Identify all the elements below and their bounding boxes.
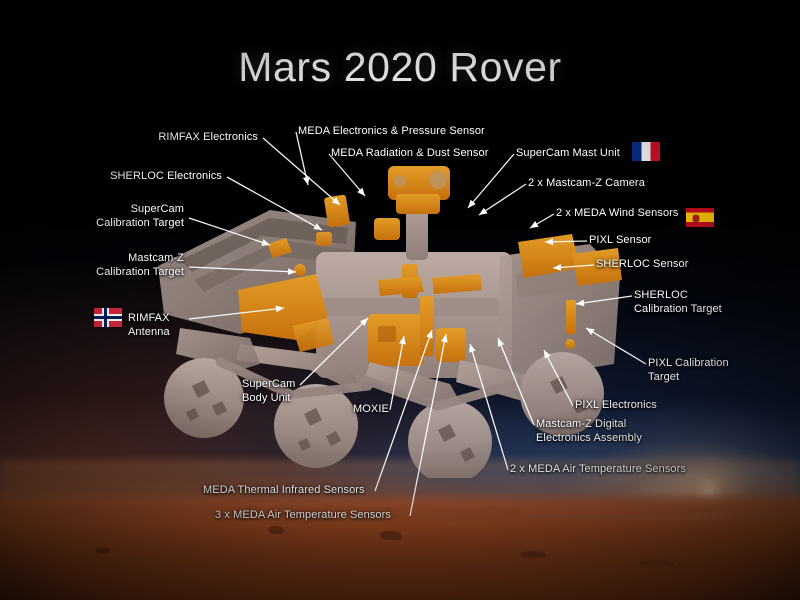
callout-sherloc-sensor: SHERLOC Sensor	[596, 258, 689, 272]
callout-moxie: MOXIE	[353, 403, 389, 417]
page-title: Mars 2020 Rover	[0, 44, 800, 91]
callout-pixl-calibration-target: PIXL Calibration Target	[648, 357, 729, 384]
callout-mastcam-z-camera: 2 x Mastcam-Z Camera	[528, 177, 645, 191]
rock	[640, 560, 674, 566]
callout-meda-air-temperature-sensors-2x: 2 x MEDA Air Temperature Sensors	[510, 463, 686, 477]
callout-rimfax-antenna: RIMFAX Antenna	[128, 312, 170, 339]
callout-meda-air-temperature-sensors-3x: 3 x MEDA Air Temperature Sensors	[215, 509, 391, 523]
callout-rimfax-electronics: RIMFAX Electronics	[158, 131, 258, 145]
rock	[96, 547, 110, 554]
callout-meda-electronics-pressure-sensor: MEDA Electronics & Pressure Sensor	[298, 125, 485, 139]
flag-spain-icon	[686, 208, 714, 227]
callout-mastcam-z-calibration-target: Mastcam-Z Calibration Target	[96, 252, 184, 279]
callout-meda-radiation-dust-sensor: MEDA Radiation & Dust Sensor	[331, 147, 488, 161]
callout-sherloc-electronics: SHERLOC Electronics	[110, 170, 222, 184]
flag-norway-icon	[94, 308, 122, 327]
callout-pixl-electronics: PIXL Electronics	[575, 399, 657, 413]
rock	[380, 531, 402, 540]
callout-pixl-sensor: PIXL Sensor	[589, 234, 651, 248]
callout-sherloc-calibration-target: SHERLOC Calibration Target	[634, 289, 722, 316]
callout-supercam-mast-unit: SuperCam Mast Unit	[516, 147, 620, 161]
callout-mastcam-z-digital-electronics-assembly: Mastcam-Z Digital Electronics Assembly	[536, 418, 642, 445]
rock	[520, 551, 546, 558]
rock	[268, 526, 284, 534]
flag-france-icon	[632, 142, 660, 161]
callout-supercam-body-unit: SuperCam Body Unit	[242, 378, 295, 405]
callout-meda-wind-sensors: 2 x MEDA Wind Sensors	[556, 207, 679, 221]
callout-supercam-calibration-target: SuperCam Calibration Target	[96, 203, 184, 230]
callout-meda-thermal-infrared-sensors: MEDA Thermal Infrared Sensors	[203, 484, 365, 498]
mars-2020-rover-infographic: Mars 2020 Rover RIMFAX ElectronicsMEDA E…	[0, 0, 800, 600]
